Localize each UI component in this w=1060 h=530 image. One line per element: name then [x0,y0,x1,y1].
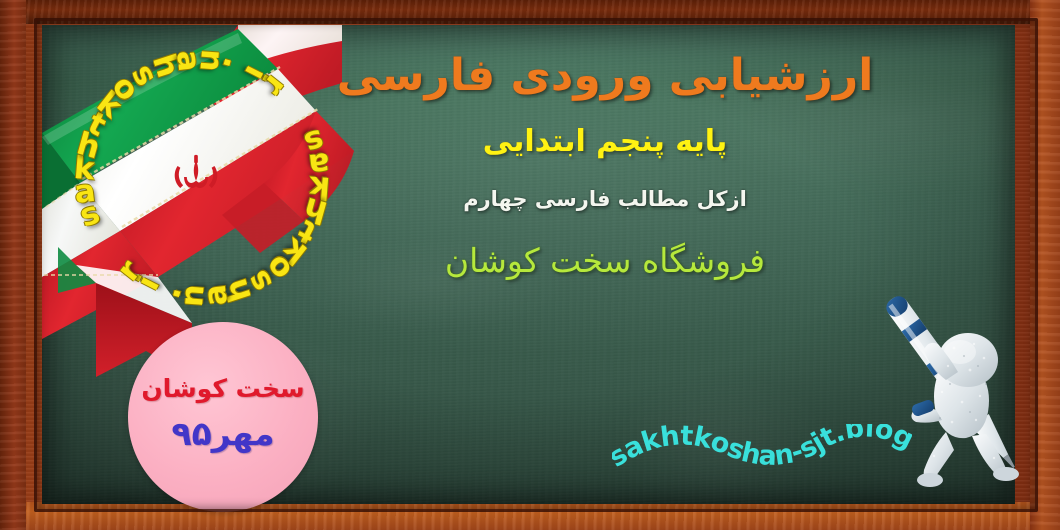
frame-inner-bevel [34,18,1038,512]
chalkboard-poster: sakhtkoshan.irsakhtkoshan.ir ارزشیابی ور… [0,0,1060,530]
frame-left-rail [0,0,26,530]
